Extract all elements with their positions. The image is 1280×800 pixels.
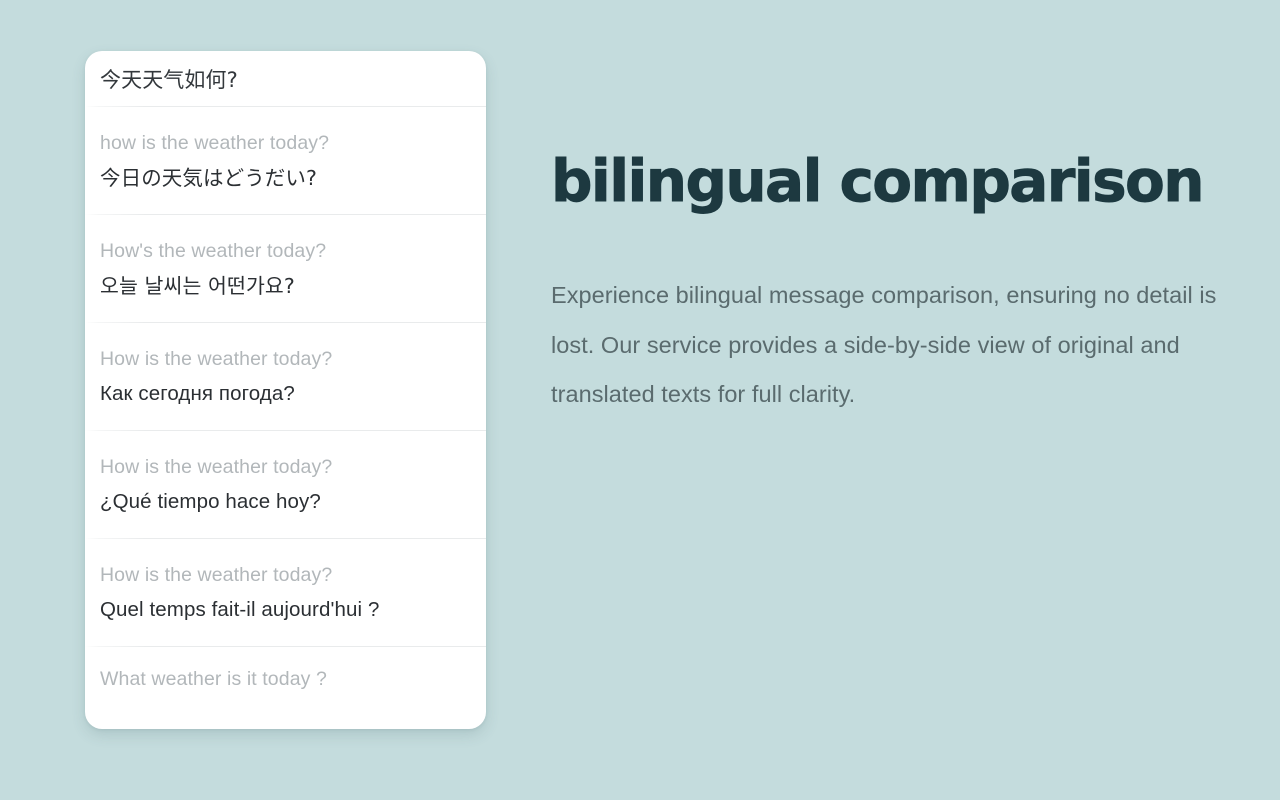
row-target-text: 오늘 날씨는 어떤가요? [100, 273, 471, 300]
bilingual-comparison-card: 今天天气如何? how is the weather today? 今日の天気は… [85, 51, 486, 729]
page-description: Experience bilingual message comparison,… [551, 210, 1251, 420]
row-target-text: ¿Qué tiempo hace hoy? [100, 489, 471, 516]
row-source-text: how is the weather today? [100, 131, 471, 156]
comparison-row[interactable]: 今天天气如何? [85, 51, 486, 107]
comparison-row[interactable]: how is the weather today? 今日の天気はどうだい? [85, 107, 486, 215]
row-target-text: Как сегодня погода? [100, 381, 471, 408]
row-target-text: 今日の天気はどうだい? [100, 165, 471, 192]
row-source-text: How is the weather today? [100, 455, 471, 480]
comparison-row[interactable]: How's the weather today? 오늘 날씨는 어떤가요? [85, 215, 486, 323]
comparison-row[interactable]: How is the weather today? Quel temps fai… [85, 539, 486, 647]
comparison-row[interactable]: How is the weather today? ¿Qué tiempo ha… [85, 431, 486, 539]
row-source-text: What weather is it today ? [100, 667, 471, 692]
page-title: bilingual comparison [551, 152, 1251, 210]
row-source-text: How is the weather today? [100, 347, 471, 372]
row-target-text: Quel temps fait-il aujourd'hui ? [100, 597, 471, 624]
comparison-row[interactable]: What weather is it today ? [85, 647, 486, 729]
row-target-text: 今天天气如何? [100, 67, 471, 94]
page-root: 今天天气如何? how is the weather today? 今日の天気は… [0, 0, 1280, 800]
row-source-text: How is the weather today? [100, 563, 471, 588]
feature-copy-block: bilingual comparison Experience bilingua… [551, 152, 1251, 420]
row-source-text: How's the weather today? [100, 239, 471, 264]
comparison-row[interactable]: How is the weather today? Как сегодня по… [85, 323, 486, 431]
